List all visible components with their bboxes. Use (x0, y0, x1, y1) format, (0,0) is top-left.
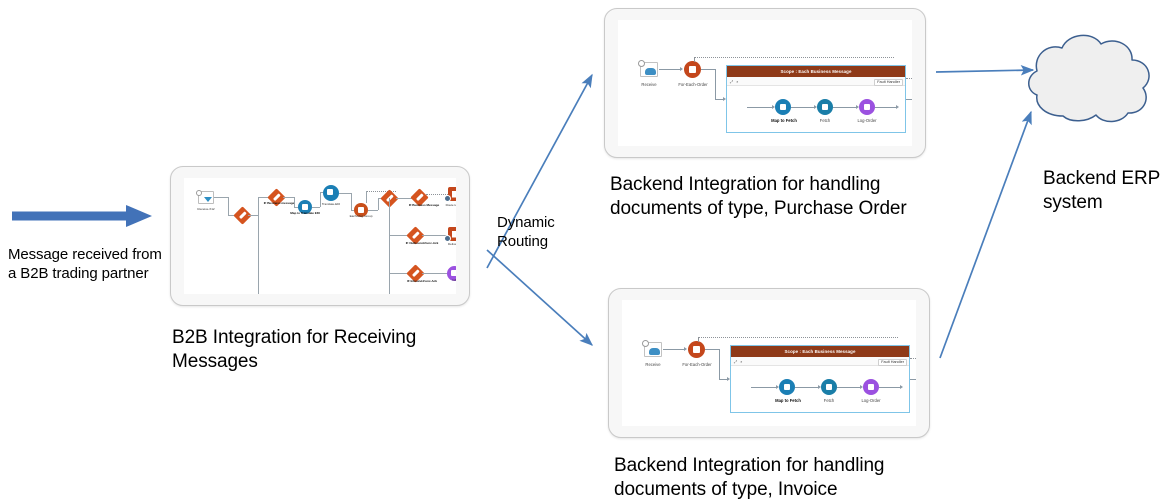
b2b-integration-canvas[interactable]: Receive-X12 IF Business message Map to T… (184, 178, 456, 294)
po-label-receive: Receive (641, 82, 656, 87)
expand-icon[interactable]: ⤢ (734, 359, 737, 364)
po-label-fetch: Fetch (820, 118, 830, 123)
backend-po-tablet[interactable]: Receive For-Each-Order Scope : Each Busi… (604, 8, 926, 158)
node-label-route-to-backend: Route to Backend Intg ... (446, 203, 456, 207)
node-route-to-backend[interactable] (448, 187, 456, 201)
wire (715, 69, 716, 99)
wire (378, 198, 379, 210)
wire (791, 107, 815, 108)
adapter-badge-icon (444, 195, 451, 202)
wire (389, 198, 390, 294)
inv-node-log-order[interactable] (863, 379, 879, 395)
po-node-log-order[interactable] (859, 99, 875, 115)
backend-invoice-canvas[interactable]: Receive For-Each-Order Scope : Each Busi… (622, 300, 916, 426)
wire (351, 193, 352, 210)
wire (663, 349, 685, 350)
wire (396, 198, 412, 199)
wire (747, 107, 773, 108)
inv-node-fetch[interactable] (821, 379, 837, 395)
node-label-inbound-functional: Inbound-Functional-... Pa (452, 278, 456, 282)
wire (320, 192, 321, 207)
backend-po-canvas[interactable]: Receive For-Each-Order Scope : Each Busi… (618, 20, 912, 146)
wire-arrow (896, 105, 899, 109)
wire (258, 197, 259, 294)
wire (795, 387, 819, 388)
node-label-deliver-functional-ack: Deliver-Functional-Ack (448, 242, 456, 246)
routing-arrow-to-invoice (487, 250, 592, 345)
wire (833, 107, 857, 108)
inbound-message-arrow (12, 205, 152, 227)
node-label-map-to-translate-edi: Map to Translate EDI (290, 211, 319, 215)
inv-node-for-each-order[interactable] (688, 341, 705, 358)
inv-label-log-order: Log-Order (861, 398, 880, 403)
inv-exit-dotted (910, 358, 916, 359)
wire (248, 215, 258, 216)
po-label-for-each-order: For-Each-Order (678, 82, 707, 87)
backend-invoice-tablet[interactable]: Receive For-Each-Order Scope : Each Busi… (608, 288, 930, 438)
wire (228, 197, 229, 215)
inv-fault-handler-button[interactable]: Fault Handler (878, 359, 907, 366)
po-node-for-each-order[interactable] (684, 61, 701, 78)
diagram-canvas: Message received from a B2B trading part… (0, 0, 1168, 499)
wire (719, 349, 720, 379)
inv-loopback-dotted (698, 337, 898, 338)
inv-label-receive: Receive (645, 362, 660, 367)
wire (837, 387, 861, 388)
search-icon[interactable]: ⌕ (740, 359, 742, 364)
po-exit-dotted (906, 78, 912, 79)
po-loopback-dotted (694, 57, 894, 58)
inv-label-fetch: Fetch (824, 398, 834, 403)
arrow-invoice-to-erp (940, 112, 1031, 358)
node-label-translate-edi: Translate-EDI (322, 202, 340, 206)
node-label-if-business-message-1: IF Business message (264, 201, 295, 205)
wire (339, 193, 351, 194)
erp-caption: Backend ERP system (1043, 167, 1168, 215)
wire (366, 191, 367, 203)
po-scope-box[interactable]: Scope : Each Business Message ⤢ ⌕ Fault … (726, 65, 906, 133)
wire (698, 337, 699, 342)
inbound-message-caption: Message received from a B2B trading part… (8, 245, 178, 283)
node-label-receive-x12: Receive-X12 (197, 207, 214, 211)
node-label-each-msg-group: Each-Msg-Group (350, 214, 373, 218)
wire-arrow (900, 385, 903, 389)
wire (906, 99, 912, 100)
node-label-if-business-message-2: IF Business Message (409, 203, 439, 207)
wire (875, 107, 897, 108)
wire (283, 197, 294, 198)
node-receive-x12[interactable] (198, 191, 214, 204)
backend-invoice-caption: Backend Integration for handling documen… (614, 454, 954, 499)
wire (312, 207, 320, 208)
po-scope-title: Scope : Each Business Message (727, 66, 905, 77)
adapter-badge-icon (444, 235, 451, 242)
po-fault-handler-button[interactable]: Fault Handler (874, 79, 903, 86)
po-label-map-to-fetch: Map to Fetch (771, 118, 797, 123)
erp-cloud-icon (1029, 35, 1149, 121)
dynamic-routing-label: Dynamic Routing (497, 213, 587, 251)
po-node-receive[interactable] (640, 62, 658, 77)
backend-po-caption: Backend Integration for handling documen… (610, 173, 950, 221)
wire-arrow (680, 67, 683, 71)
node-translate-edi[interactable] (323, 185, 339, 201)
wire (694, 57, 695, 62)
inv-label-for-each-order: For-Each-Order (682, 362, 711, 367)
arrow-po-to-erp (936, 70, 1033, 72)
wire-arrow (684, 347, 687, 351)
wire (701, 69, 716, 70)
wire (294, 197, 295, 207)
b2b-integration-caption: B2B Integration for Receiving Messages (172, 326, 472, 374)
po-label-log-order: Log-Order (857, 118, 876, 123)
wire (422, 273, 448, 274)
node-label-if-inbound-func-ack: IF Inbound-Func-Ack (407, 279, 437, 283)
inv-scope-box[interactable]: Scope : Each Business Message ⤢ ⌕ Fault … (730, 345, 910, 413)
wire (705, 349, 720, 350)
b2b-integration-tablet[interactable]: Receive-X12 IF Business message Map to T… (170, 166, 470, 306)
wire (214, 197, 228, 198)
wire (659, 69, 681, 70)
po-node-map-to-fetch[interactable] (775, 99, 791, 115)
node-label-if-outbound-func-ack: IF Outbound-Func-Ack (406, 241, 439, 245)
wire (751, 387, 777, 388)
inv-scope-title: Scope : Each Business Message (731, 346, 909, 357)
inv-node-map-to-fetch[interactable] (779, 379, 795, 395)
inv-node-receive[interactable] (644, 342, 662, 357)
wire (910, 379, 916, 380)
inv-label-map-to-fetch: Map to Fetch (775, 398, 801, 403)
node-deliver-functional-ack[interactable] (448, 227, 456, 241)
wire (368, 210, 378, 211)
expand-icon[interactable]: ⤢ (730, 79, 733, 84)
search-icon[interactable]: ⌕ (736, 79, 738, 84)
wire (879, 387, 901, 388)
po-node-fetch[interactable] (817, 99, 833, 115)
